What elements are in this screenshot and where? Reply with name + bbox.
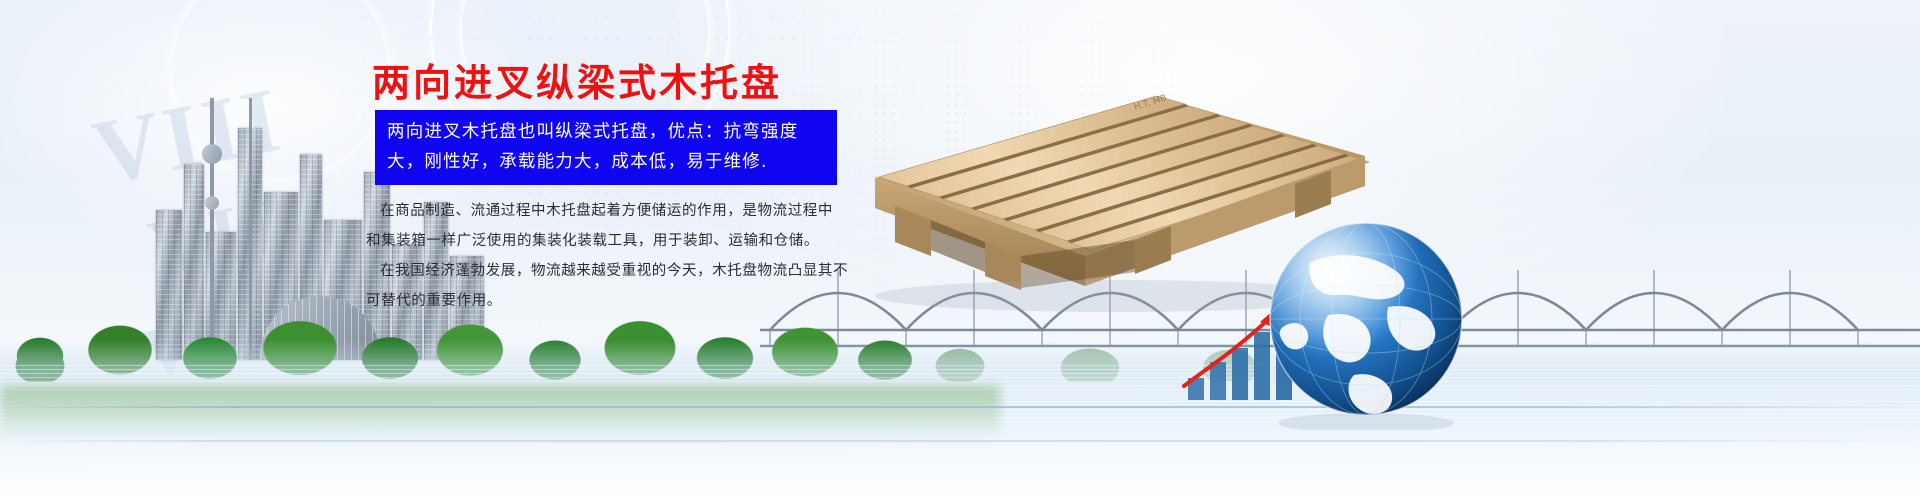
- page-title: 两向进叉纵梁式木托盘: [372, 52, 782, 107]
- highlight-text-box: 两向进叉木托盘也叫纵梁式托盘，优点：抗弯强度 大，刚性好，承载能力大，成本低，易…: [375, 110, 837, 185]
- product-banner: VIII VII VI: [0, 0, 1920, 500]
- body-line-1: 在商品制造、流通过程中木托盘起着方便储运的作用，是物流过程中: [366, 196, 836, 226]
- globe-svg: [1262, 215, 1477, 430]
- body-line-2: 和集装箱一样广泛使用的集装化装载工具，用于装卸、运输和仓储。: [366, 226, 836, 256]
- body-line-3: 在我国经济蓬勃发展，物流越来越受重视的今天，木托盘物流凸显其不: [366, 256, 836, 286]
- earth-globe: [1262, 215, 1477, 430]
- highlight-line-1: 两向进叉木托盘也叫纵梁式托盘，优点：抗弯强度: [387, 117, 827, 147]
- green-reflection: [0, 386, 1000, 438]
- body-paragraph: 在商品制造、流通过程中木托盘起着方便储运的作用，是物流过程中 和集装箱一样广泛使…: [366, 196, 836, 316]
- highlight-line-2: 大，刚性好，承载能力大，成本低，易于维修.: [387, 147, 827, 177]
- body-line-4: 可替代的重要作用。: [366, 286, 836, 316]
- horizon-line: [0, 440, 1920, 442]
- horizon-line: [0, 406, 1920, 408]
